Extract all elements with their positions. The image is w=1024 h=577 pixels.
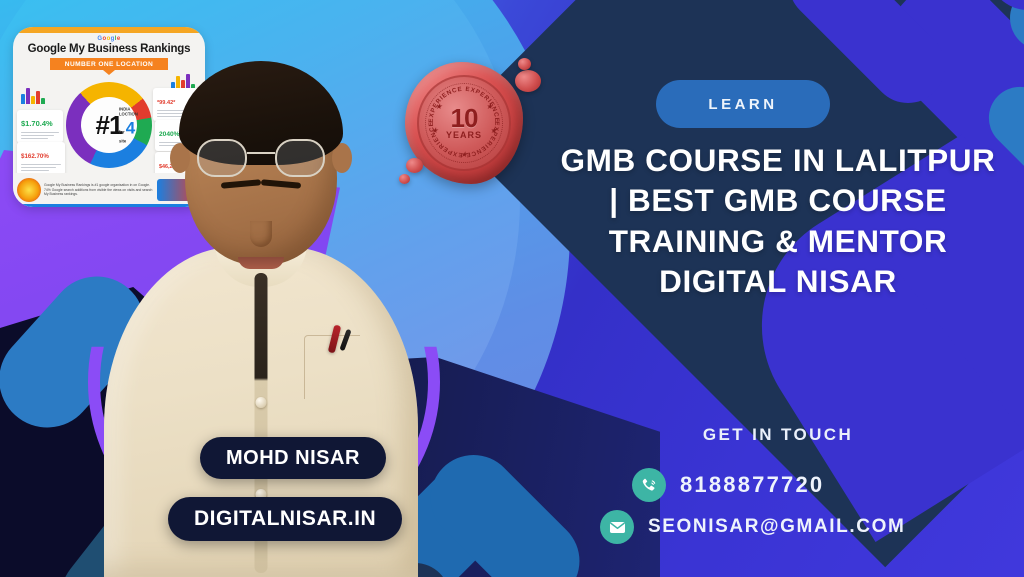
- seal-unit: YEARS: [446, 130, 482, 140]
- person-eyebrow-right: [261, 179, 301, 188]
- award-seal-icon: [17, 178, 41, 202]
- person-photo: [96, 17, 426, 577]
- headline-line-1: GMB COURSE IN LALITPUR: [532, 140, 1024, 180]
- website-badge[interactable]: DIGITALNISAR.IN: [168, 497, 402, 541]
- page-title: GMB COURSE IN LALITPUR | BEST GMB COURSE…: [532, 140, 1024, 301]
- right-content: LEARN GMB COURSE IN LALITPUR | BEST GMB …: [532, 0, 1024, 577]
- contact-phone-row[interactable]: 8188877720: [632, 468, 824, 502]
- person-button: [256, 397, 267, 408]
- city-illustration-top-left: [21, 88, 45, 104]
- stat-value: $1.70.4%: [21, 119, 53, 128]
- seal-inner: 10 YEARS: [425, 83, 503, 163]
- seal-ring: EXPERIENCE EXPERIENCE EXPERIENCE EXPERIE…: [417, 75, 511, 171]
- headline-line-2: | BEST GMB COURSE: [532, 180, 1024, 220]
- learn-button[interactable]: LEARN: [656, 80, 830, 128]
- name-badge: MOHD NISAR: [200, 437, 386, 479]
- person-mouth: [238, 257, 284, 269]
- placeholder-lines: [21, 132, 59, 139]
- eyeglasses-icon: [197, 139, 325, 179]
- email-address: SEONISAR@GMAIL.COM: [648, 516, 905, 538]
- email-icon: [600, 510, 634, 544]
- seal-drip-icon: [518, 58, 531, 70]
- get-in-touch-label: GET IN TOUCH: [532, 425, 1024, 445]
- lens-left: [197, 139, 247, 177]
- glasses-bridge: [247, 152, 275, 154]
- stat-chip: $162.70%: [17, 142, 65, 175]
- person-eyebrow-left: [221, 179, 261, 188]
- person-nose: [250, 221, 272, 247]
- contact-email-row[interactable]: SEONISAR@GMAIL.COM: [600, 510, 905, 544]
- phone-icon: [632, 468, 666, 502]
- stat-chip: $1.70.4%: [17, 110, 63, 143]
- lens-right: [275, 139, 325, 177]
- stat-value: $162.70%: [21, 153, 49, 160]
- placeholder-lines: [21, 164, 61, 171]
- headline-line-4: DIGITAL NISAR: [532, 261, 1024, 301]
- promo-banner: Google Google My Business Rankings NUMBE…: [0, 0, 1024, 577]
- headline-line-3: TRAINING & MENTOR: [532, 221, 1024, 261]
- seal-number: 10: [451, 106, 478, 131]
- phone-number: 8188877720: [680, 472, 824, 498]
